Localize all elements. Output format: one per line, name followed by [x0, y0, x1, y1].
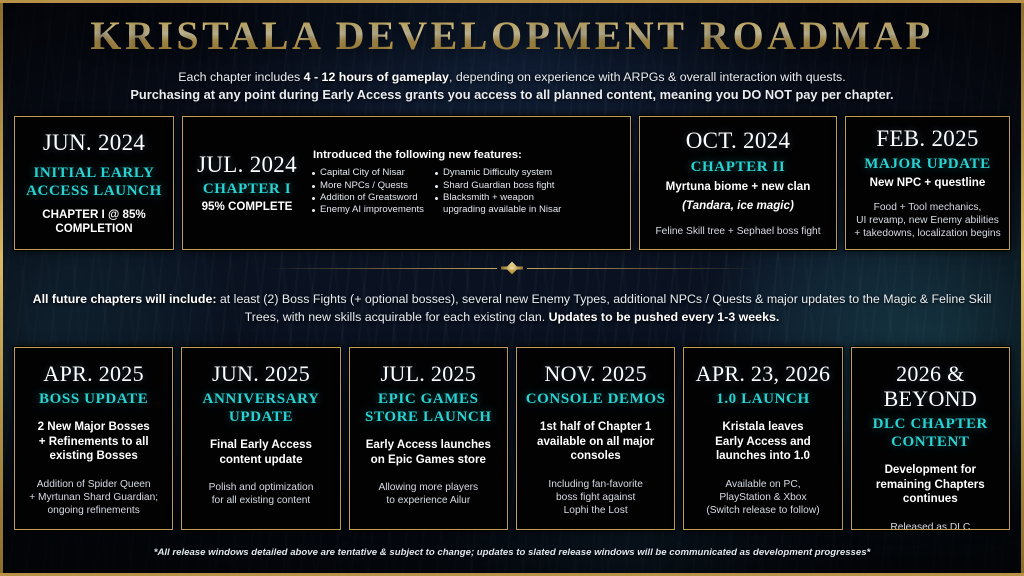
- milestone-card-feb-2025[interactable]: FEB. 2025 MAJOR UPDATE New NPC + questli…: [845, 116, 1010, 250]
- diamond-ornament-icon: [499, 262, 525, 274]
- milestone-card-jul-2025[interactable]: JUL. 2025 EPIC GAMES STORE LAUNCH Early …: [349, 347, 508, 530]
- card-note: Available on PC, PlayStation & Xbox (Swi…: [706, 478, 819, 517]
- card-date: JUN. 2025: [212, 361, 310, 386]
- card-features-column: Introduced the following new features: C…: [303, 123, 622, 243]
- card-note-line: Available on PC,: [706, 478, 819, 491]
- card-note-line: PlayStation & Xbox: [706, 491, 819, 504]
- features-heading: Introduced the following new features:: [313, 149, 622, 161]
- card-main-line: content update: [210, 453, 312, 468]
- milestone-card-nov-2025[interactable]: NOV. 2025 CONSOLE DEMOS 1st half of Chap…: [516, 347, 675, 530]
- card-main: Early Access launches on Epic Games stor…: [366, 438, 491, 467]
- future-chapters-tail: Updates to be pushed every 1-3 weeks.: [549, 310, 780, 324]
- card-main-line: consoles: [537, 449, 654, 464]
- card-main: Final Early Access content update: [210, 438, 312, 467]
- card-summary-column: JUL. 2024 CHAPTER I 95% COMPLETE: [191, 123, 303, 243]
- section-divider: [0, 261, 1024, 275]
- card-main-line: remaining Chapters: [876, 478, 985, 493]
- card-subtitle: DLC CHAPTER CONTENT: [858, 415, 1003, 451]
- card-date: NOV. 2025: [544, 361, 647, 386]
- card-note-line: Polish and optimization: [209, 481, 314, 494]
- intro-line1-bold: 4 - 12 hours of gameplay: [304, 70, 449, 84]
- milestone-card-apr-2026[interactable]: APR. 23, 2026 1.0 LAUNCH Kristala leaves…: [683, 347, 842, 530]
- card-subtitle: BOSS UPDATE: [39, 390, 148, 408]
- intro-line1-pre: Each chapter includes: [178, 70, 303, 84]
- card-main: 95% COMPLETE: [202, 200, 293, 215]
- card-note-line: boss fight against: [548, 491, 643, 504]
- card-date: FEB. 2025: [876, 125, 978, 152]
- card-main: Development for remaining Chapters conti…: [876, 463, 985, 507]
- intro-paragraph: Each chapter includes 4 - 12 hours of ga…: [0, 69, 1024, 103]
- card-main: 1st half of Chapter 1 available on all m…: [537, 420, 654, 464]
- card-note: Including fan-favorite boss fight agains…: [548, 478, 643, 517]
- card-main-line2: COMPLETION: [42, 222, 145, 237]
- milestone-row-2: APR. 2025 BOSS UPDATE 2 New Major Bosses…: [14, 347, 1010, 530]
- card-date: APR. 23, 2026: [696, 361, 831, 386]
- card-main-line: Kristala leaves: [715, 420, 811, 435]
- card-main-italic: (Tandara, ice magic): [682, 199, 794, 214]
- card-main-line: existing Bosses: [38, 449, 150, 464]
- card-note-line: Including fan-favorite: [548, 478, 643, 491]
- future-chapters-lead: All future chapters will include:: [33, 292, 217, 306]
- page-title: KRISTALA DEVELOPMENT ROADMAP: [90, 12, 933, 59]
- card-note: Released as DLC: [890, 521, 970, 531]
- feature-item: Dynamic Difficulty system: [434, 167, 561, 179]
- milestone-card-oct-2024[interactable]: OCT. 2024 CHAPTER II Myrtuna biome + new…: [639, 116, 837, 250]
- card-main: CHAPTER I @ 85% COMPLETION: [42, 208, 145, 237]
- card-note-line: to experience Ailur: [378, 494, 478, 507]
- card-main-line: on Epic Games store: [366, 453, 491, 468]
- features-list-left: Capital City of Nisar More NPCs / Quests…: [311, 167, 424, 217]
- card-main-line: + Refinements to all: [38, 435, 150, 450]
- card-main-line: Early Access launches: [366, 438, 491, 453]
- card-subtitle: EPIC GAMES STORE LAUNCH: [356, 390, 501, 426]
- card-date: 2026 & BEYOND: [858, 361, 1003, 411]
- card-note-line: Addition of Spider Queen: [29, 478, 158, 491]
- divider-line-left: [267, 268, 497, 269]
- card-note-line: + Myrtunan Shard Guardian;: [29, 491, 158, 504]
- feature-item: Blacksmith + weapon: [434, 192, 561, 204]
- card-main-line: Development for: [876, 463, 985, 478]
- card-date: JUL. 2024: [197, 151, 297, 178]
- milestone-card-jun-2025[interactable]: JUN. 2025 ANNIVERSARY UPDATE Final Early…: [181, 347, 340, 530]
- footer-disclaimer: *All release windows detailed above are …: [0, 547, 1024, 558]
- card-main-line: launches into 1.0: [715, 449, 811, 464]
- feature-item: Enemy AI improvements: [311, 204, 424, 216]
- card-main-line: Final Early Access: [210, 438, 312, 453]
- card-note-line: (Switch release to follow): [706, 504, 819, 517]
- feature-item: Shard Guardian boss fight: [434, 180, 561, 192]
- card-subtitle: ANNIVERSARY UPDATE: [188, 390, 333, 426]
- card-note-line3: + takedowns, localization begins: [854, 227, 1000, 240]
- intro-line-1: Each chapter includes 4 - 12 hours of ga…: [48, 69, 976, 86]
- feature-item: More NPCs / Quests: [311, 180, 424, 192]
- intro-line-2: Purchasing at any point during Early Acc…: [48, 86, 976, 103]
- card-date: JUN. 2024: [43, 129, 145, 156]
- milestone-card-apr-2025[interactable]: APR. 2025 BOSS UPDATE 2 New Major Bosses…: [14, 347, 173, 530]
- card-main: 2 New Major Bosses + Refinements to all …: [38, 420, 150, 464]
- card-subtitle: CONSOLE DEMOS: [526, 390, 666, 408]
- card-main-line: available on all major: [537, 435, 654, 450]
- card-main: New NPC + questline: [870, 176, 986, 191]
- card-note-line: ongoing refinements: [29, 504, 158, 517]
- card-note: Food + Tool mechanics, UI revamp, new En…: [854, 201, 1000, 240]
- card-main-line: Early Access and: [715, 435, 811, 450]
- card-main-line: 2 New Major Bosses: [38, 420, 150, 435]
- card-date: OCT. 2024: [686, 127, 791, 154]
- card-note-line: Released as DLC: [890, 521, 970, 531]
- features-list-right: Dynamic Difficulty system Shard Guardian…: [434, 167, 561, 217]
- intro-line1-post: , depending on experience with ARPGs & o…: [449, 70, 846, 84]
- page-title-wrap: KRISTALA DEVELOPMENT ROADMAP: [0, 3, 1024, 59]
- card-main-line1: CHAPTER I @ 85%: [42, 208, 145, 223]
- card-subtitle: 1.0 LAUNCH: [716, 390, 810, 408]
- card-subtitle-line1: INITIAL EARLY: [26, 164, 162, 182]
- milestone-row-1: JUN. 2024 INITIAL EARLY ACCESS LAUNCH CH…: [14, 116, 1010, 250]
- card-note-line: Allowing more players: [378, 481, 478, 494]
- features-columns: Capital City of Nisar More NPCs / Quests…: [311, 167, 622, 217]
- card-note: Feline Skill tree + Sephael boss fight: [655, 225, 820, 238]
- feature-item-continued: upgrading available in Nisar: [434, 204, 561, 216]
- divider-line-right: [527, 268, 757, 269]
- card-date: JUL. 2025: [381, 361, 477, 386]
- card-note: Allowing more players to experience Ailu…: [378, 481, 478, 507]
- card-note-line: for all existing content: [209, 494, 314, 507]
- card-date: APR. 2025: [43, 361, 144, 386]
- card-main: Myrtuna biome + new clan: [666, 180, 811, 195]
- card-note-line2: UI revamp, new Enemy abilities: [854, 214, 1000, 227]
- milestone-card-jun-2024[interactable]: JUN. 2024 INITIAL EARLY ACCESS LAUNCH CH…: [14, 116, 174, 250]
- card-note-line1: Food + Tool mechanics,: [854, 201, 1000, 214]
- card-subtitle: CHAPTER II: [691, 158, 786, 176]
- milestone-card-jul-2024[interactable]: JUL. 2024 CHAPTER I 95% COMPLETE Introdu…: [182, 116, 631, 250]
- card-subtitle: INITIAL EARLY ACCESS LAUNCH: [26, 164, 162, 200]
- card-subtitle: CHAPTER I: [203, 180, 291, 198]
- feature-item: Capital City of Nisar: [311, 167, 424, 179]
- milestone-card-2026-beyond[interactable]: 2026 & BEYOND DLC CHAPTER CONTENT Develo…: [851, 347, 1010, 530]
- feature-item: Addition of Greatsword: [311, 192, 424, 204]
- card-main: Kristala leaves Early Access and launche…: [715, 420, 811, 464]
- card-main-line: 1st half of Chapter 1: [537, 420, 654, 435]
- roadmap-page: KRISTALA DEVELOPMENT ROADMAP Each chapte…: [0, 0, 1024, 576]
- card-subtitle-line2: ACCESS LAUNCH: [26, 182, 162, 200]
- future-chapters-paragraph: All future chapters will include: at lea…: [0, 291, 1024, 326]
- card-note: Polish and optimization for all existing…: [209, 481, 314, 507]
- card-subtitle: MAJOR UPDATE: [864, 155, 991, 173]
- card-main-line: continues: [876, 492, 985, 507]
- card-note-line: Lophi the Lost: [548, 504, 643, 517]
- card-note: Addition of Spider Queen + Myrtunan Shar…: [29, 478, 158, 517]
